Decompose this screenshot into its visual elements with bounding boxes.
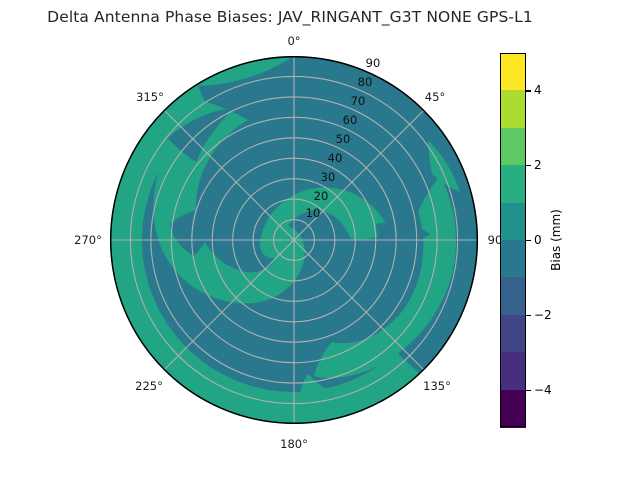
r-label-50: 50 <box>336 132 351 146</box>
r-label-70: 70 <box>351 94 366 108</box>
figure-canvas: Delta Antenna Phase Biases: JAV_RINGANT_… <box>0 0 640 480</box>
polar-plot-svg <box>110 56 478 424</box>
theta-label-135: 135° <box>423 379 451 393</box>
r-label-10: 10 <box>306 206 321 220</box>
r-label-20: 20 <box>314 189 329 203</box>
r-label-60: 60 <box>343 113 358 127</box>
theta-label-0: 0° <box>287 34 300 48</box>
colorbar[interactable]: 420−2−4 <box>500 53 526 427</box>
polar-axes[interactable] <box>110 56 478 424</box>
r-label-40: 40 <box>328 151 343 165</box>
colorbar-tick-label-2: 0 <box>534 233 542 247</box>
colorbar-tick-mark-1 <box>526 165 531 166</box>
r-label-30: 30 <box>321 170 336 184</box>
r-label-80: 80 <box>358 75 373 89</box>
colorbar-tick-label-4: −4 <box>534 383 552 397</box>
colorbar-tick-label-0: 4 <box>534 83 542 97</box>
colorbar-tick-mark-0 <box>526 90 531 91</box>
theta-label-225: 225° <box>135 379 163 393</box>
colorbar-tick-mark-2 <box>526 240 531 241</box>
colorbar-tick-mark-3 <box>526 315 531 316</box>
theta-label-270: 270° <box>74 233 102 247</box>
page-title: Delta Antenna Phase Biases: JAV_RINGANT_… <box>0 8 580 26</box>
colorbar-axis-label: Bias (mm) <box>549 209 563 271</box>
colorbar-tick-label-3: −2 <box>534 308 552 322</box>
r-label-90: 90 <box>366 56 381 70</box>
polar-grid-spokes <box>110 56 478 424</box>
colorbar-tick-label-1: 2 <box>534 158 542 172</box>
theta-label-45: 45° <box>425 90 445 104</box>
colorbar-frame <box>500 53 526 427</box>
theta-label-180: 180° <box>280 437 308 451</box>
colorbar-tick-mark-4 <box>526 390 531 391</box>
theta-label-315: 315° <box>136 90 164 104</box>
